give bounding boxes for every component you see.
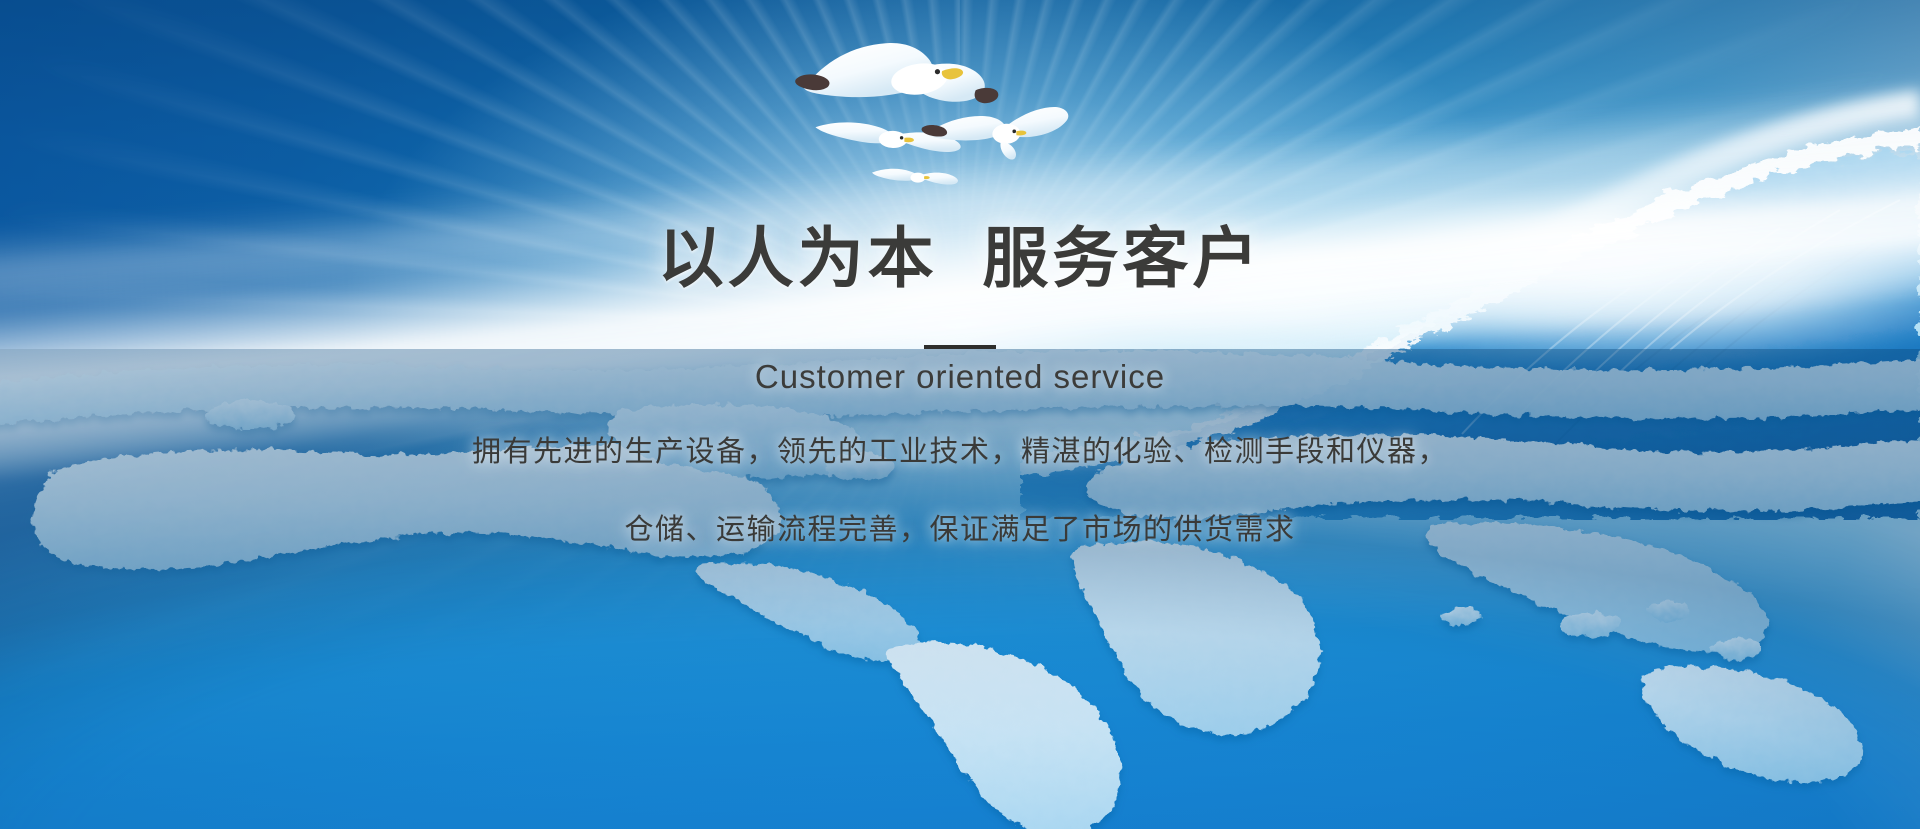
title-divider <box>924 345 996 349</box>
body-text-line-1: 拥有先进的生产设备，领先的工业技术，精湛的化验、检测手段和仪器， <box>0 428 1920 470</box>
page-title: 以人为本 服务客户 <box>0 205 1920 301</box>
subtitle: Customer oriented service <box>0 358 1920 396</box>
hero-banner: 以人为本 服务客户 Customer oriented service 拥有先进… <box>0 0 1920 829</box>
body-text-line-2: 仓储、运输流程完善，保证满足了市场的供货需求 <box>0 506 1920 548</box>
banner-content: 以人为本 服务客户 Customer oriented service 拥有先进… <box>0 0 1920 829</box>
